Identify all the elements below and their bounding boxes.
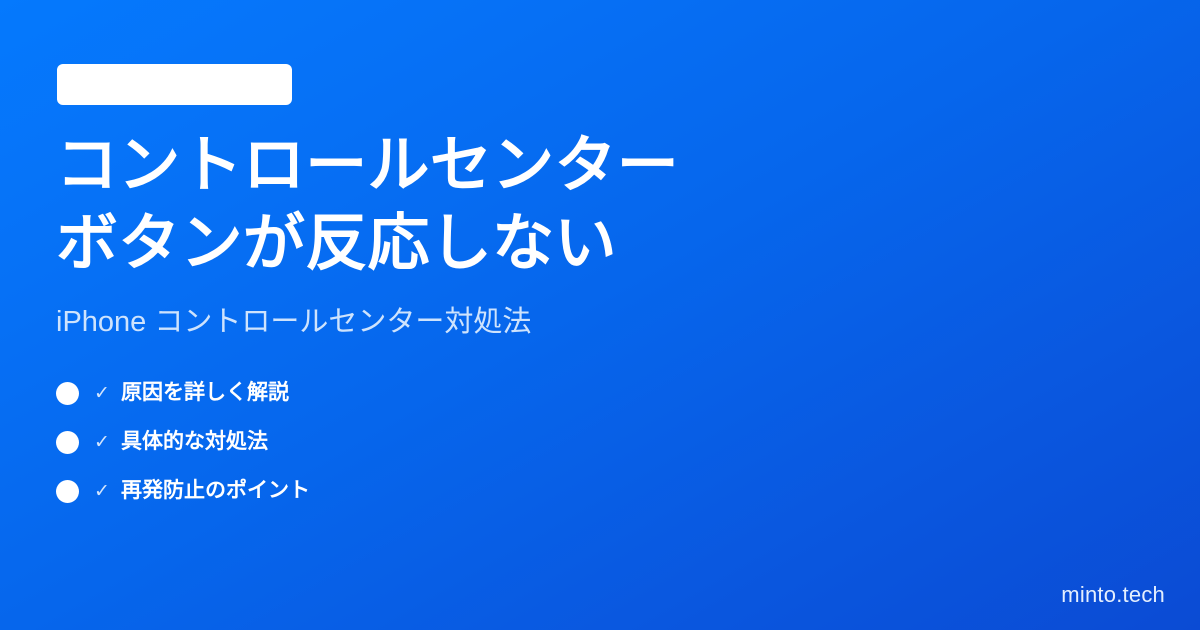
check-icon: ✓ [91, 384, 113, 403]
page-subtitle: iPhone コントロールセンター対処法 [56, 303, 531, 341]
site-brand: minto.tech [1061, 582, 1165, 608]
feature-label: 再発防止のポイント [121, 478, 310, 504]
page-title-line-1: コントロールセンター [56, 127, 679, 205]
list-item: ✓ 再発防止のポイント [56, 478, 310, 504]
bullet-dot-icon [56, 480, 79, 503]
bullet-dot-icon [56, 431, 79, 454]
page-title-line-2: ボタンが反応しない [56, 205, 679, 283]
og-image-card: コントロールセンター ボタンが反応しない iPhone コントロールセンター対処… [0, 0, 1200, 630]
check-icon: ✓ [91, 433, 113, 452]
list-item: ✓ 原因を詳しく解説 [56, 380, 310, 406]
feature-list: ✓ 原因を詳しく解説 ✓ 具体的な対処法 ✓ 再発防止のポイント [56, 380, 310, 504]
check-icon: ✓ [91, 482, 113, 501]
bullet-dot-icon [56, 382, 79, 405]
feature-label: 原因を詳しく解説 [121, 380, 289, 406]
category-badge [57, 64, 292, 105]
list-item: ✓ 具体的な対処法 [56, 429, 310, 455]
feature-label: 具体的な対処法 [121, 429, 268, 455]
page-title: コントロールセンター ボタンが反応しない [56, 127, 679, 283]
